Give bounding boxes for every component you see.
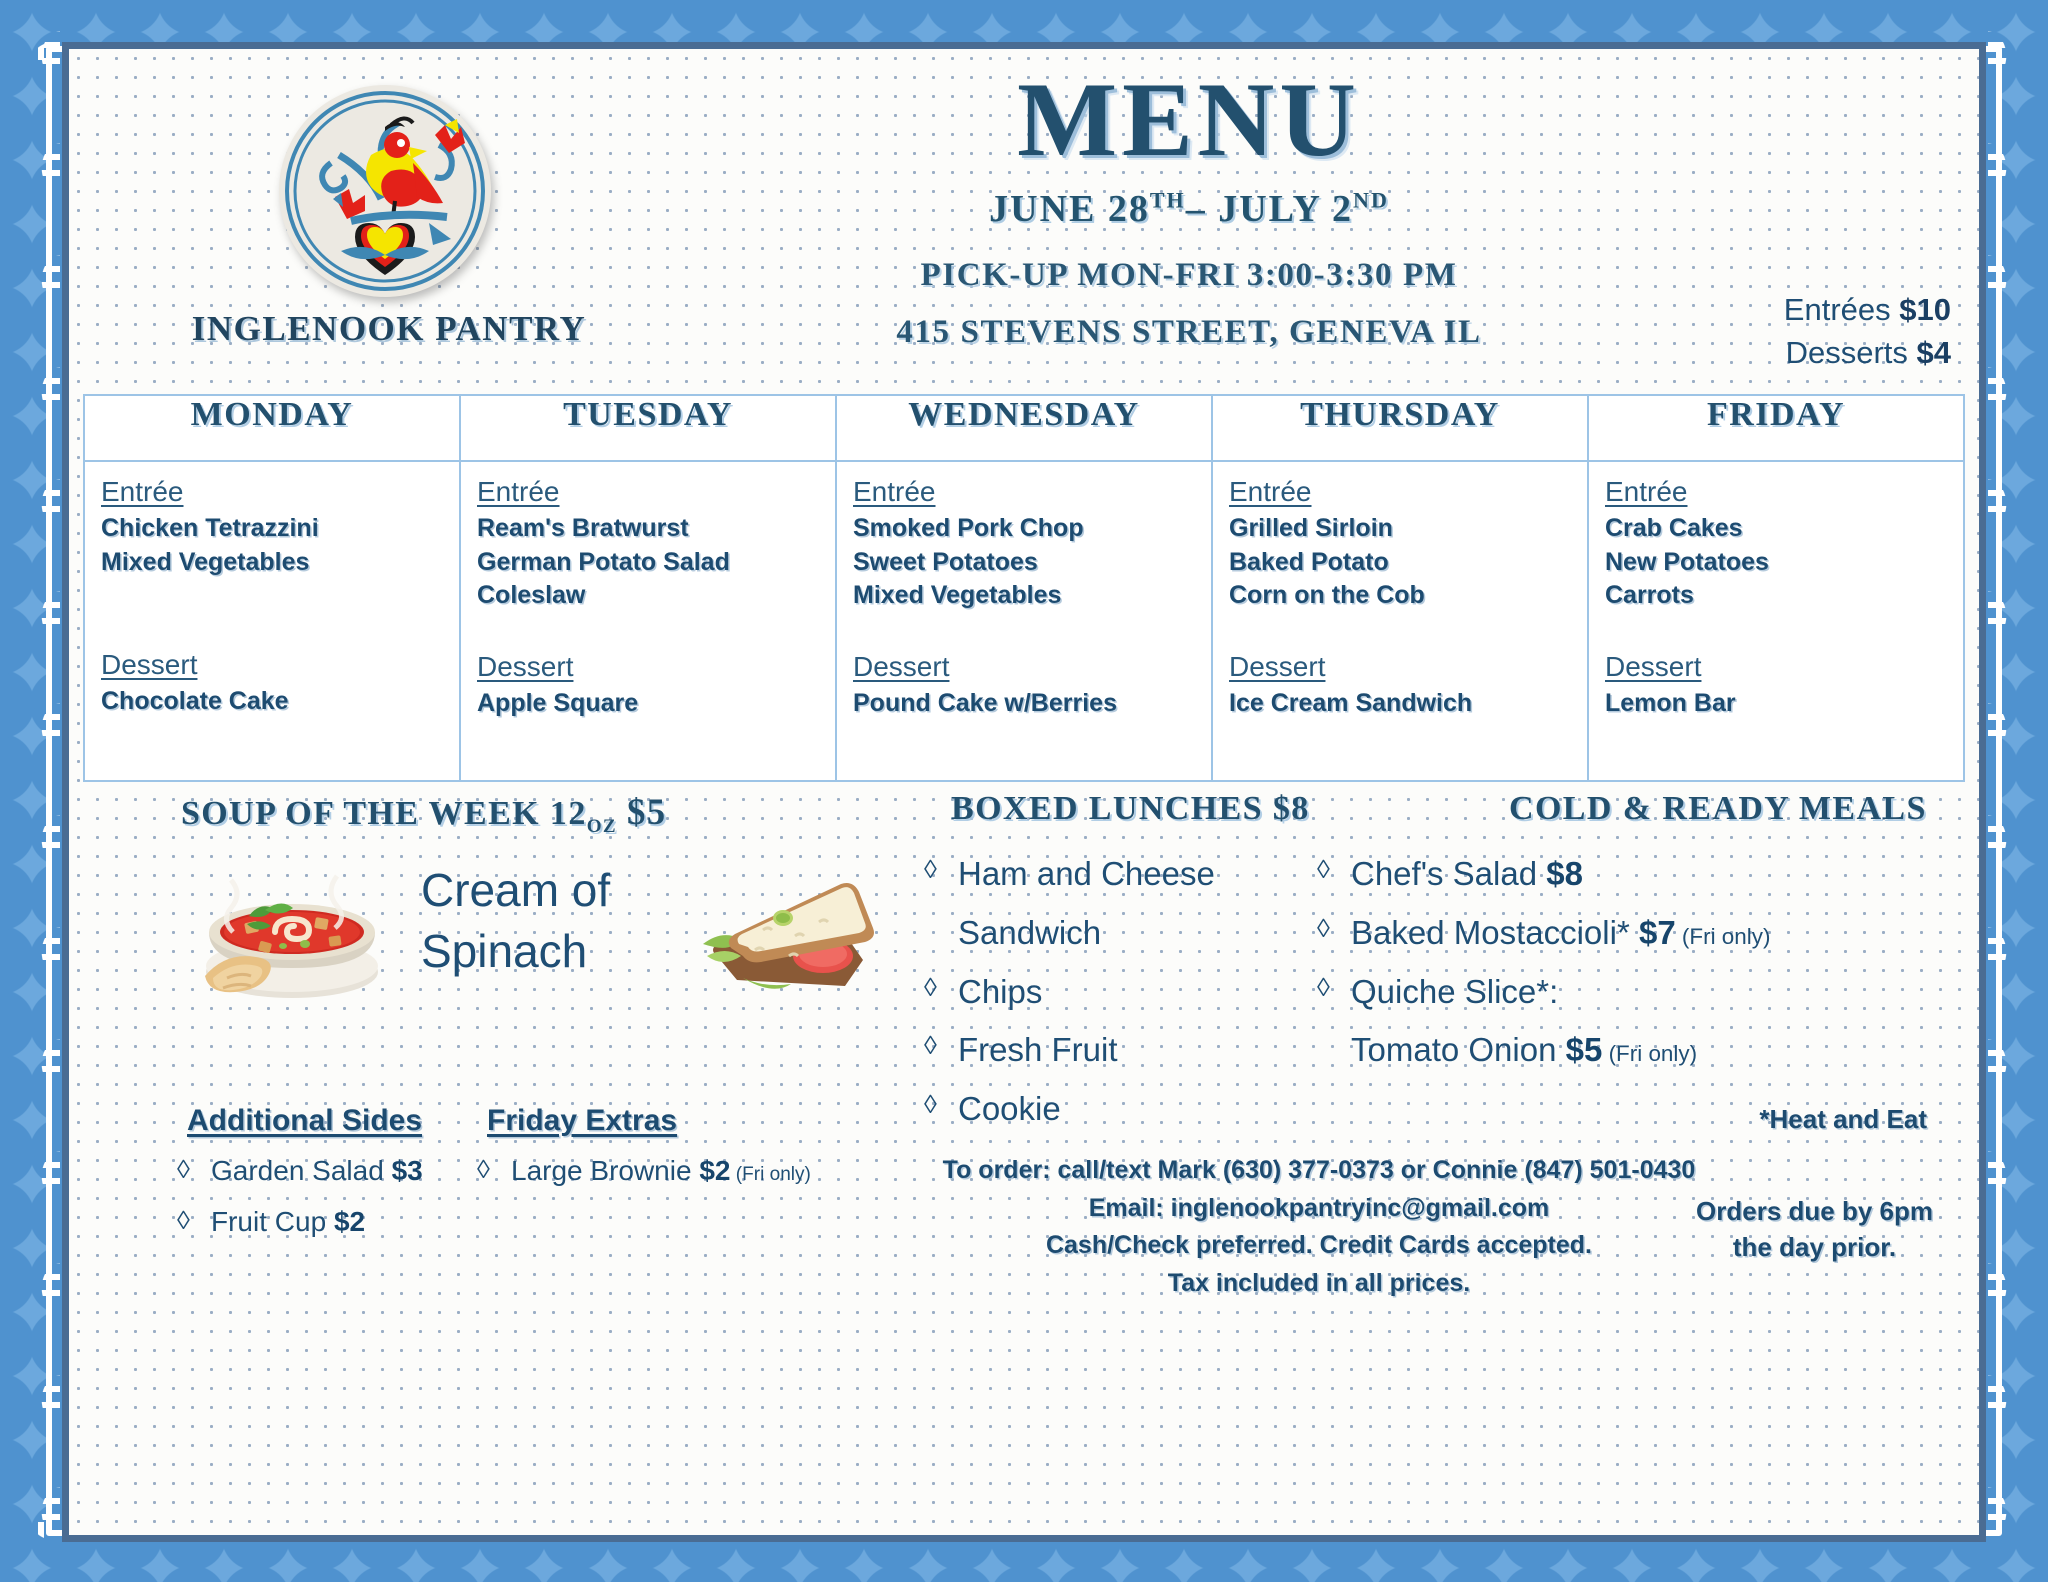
entree-item: Carrots: [1605, 579, 1963, 613]
day-cell-tuesday: Entrée Ream's Bratwurst German Potato Sa…: [460, 461, 836, 781]
soup-title-unit: OZ: [587, 816, 617, 837]
diamond-bullet-icon: ◊: [1317, 968, 1351, 1017]
spacer: [1605, 613, 1963, 651]
day-cell-monday: Entrée Chicken Tetrazzini Mixed Vegetabl…: [84, 461, 460, 781]
header-center: MENU JUNE 28TH– JULY 2ND PICK-UP MON-FRI…: [689, 67, 1689, 351]
soup-price: $5: [627, 791, 667, 832]
list-item-label: Ham and Cheese: [958, 850, 1215, 899]
list-item-label: Baked Mostaccioli*: [1351, 914, 1639, 951]
entree-price-value: $10: [1899, 292, 1951, 327]
heat-and-eat-note: *Heat and Eat: [1759, 1104, 1927, 1135]
dessert-item: Chocolate Cake: [101, 685, 459, 719]
table-row: Entrée Chicken Tetrazzini Mixed Vegetabl…: [84, 461, 1964, 781]
list-item-label: Garden Salad: [211, 1155, 392, 1186]
spacer: [853, 613, 1211, 651]
date-separator: – JULY 2: [1186, 188, 1353, 230]
list-item: ◊Fruit Cup $2: [177, 1201, 457, 1242]
list-item: ◊Fresh Fruit: [924, 1026, 1264, 1075]
entree-item: Crab Cakes: [1605, 512, 1963, 546]
dessert-label: Dessert: [853, 651, 1211, 683]
diamond-bullet-icon: ◊: [924, 1085, 958, 1134]
entree-item: New Potatoes: [1605, 546, 1963, 580]
diamond-bullet-icon: ◊: [1317, 1026, 1351, 1075]
day-header-tuesday: TUESDAY: [460, 395, 836, 461]
spacer: [1229, 613, 1587, 651]
item-note: (Fri only): [1602, 1041, 1697, 1066]
spacer: [101, 579, 459, 649]
item-price: $2: [334, 1206, 365, 1237]
list-item: ◊Baked Mostaccioli* $7 (Fri only): [1317, 909, 1837, 958]
order-email-line: Email: inglenookpantryinc@gmail.com: [929, 1190, 1709, 1228]
entree-item: Coleslaw: [477, 579, 835, 613]
item-price: $5: [1566, 1031, 1603, 1068]
diamond-bullet-icon: ◊: [1317, 909, 1351, 958]
diamond-bullet-icon: ◊: [924, 1026, 958, 1075]
item-price: $3: [392, 1155, 423, 1186]
brand-name: INGLENOOK PANTRY: [189, 309, 589, 349]
tax-line: Tax included in all prices.: [929, 1265, 1709, 1303]
dessert-item: Ice Cream Sandwich: [1229, 687, 1587, 721]
dessert-price-row: Desserts $4: [1784, 332, 1951, 375]
entree-label: Entrée: [1229, 476, 1587, 508]
diamond-bullet-icon: ◊: [177, 1201, 211, 1242]
cold-ready-items: ◊Chef's Salad $8 ◊Baked Mostaccioli* $7 …: [1317, 850, 1837, 1085]
brand-logo: [279, 85, 491, 297]
boxed-lunches-title: BOXED LUNCHES $8: [951, 790, 1310, 828]
date-start: JUNE 28: [989, 188, 1150, 230]
day-header-monday: MONDAY: [84, 395, 460, 461]
dessert-label: Dessert: [477, 651, 835, 683]
friday-extras-items: ◊Large Brownie $2 (Fri only): [477, 1150, 897, 1201]
date-end-ordinal: ND: [1353, 187, 1389, 212]
day-cell-friday: Entrée Crab Cakes New Potatoes Carrots D…: [1588, 461, 1964, 781]
diamond-bullet-icon: ◊: [924, 850, 958, 899]
item-note: (Fri only): [1676, 924, 1771, 949]
spacer: [477, 613, 835, 651]
payment-line: Cash/Check preferred. Credit Cards accep…: [929, 1227, 1709, 1265]
entree-label: Entrée: [853, 476, 1211, 508]
day-header-thursday: THURSDAY: [1212, 395, 1588, 461]
order-deadline-note: Orders due by 6pm the day prior.: [1696, 1194, 1933, 1266]
menu-date-range: JUNE 28TH– JULY 2ND: [689, 187, 1689, 231]
soup-bowl-icon: [187, 854, 397, 1004]
day-cell-wednesday: Entrée Smoked Pork Chop Sweet Potatoes M…: [836, 461, 1212, 781]
list-item: ◊Large Brownie $2 (Fri only): [477, 1150, 897, 1191]
list-item-label: Large Brownie: [511, 1155, 699, 1186]
entree-label: Entrée: [1605, 476, 1963, 508]
deadline-line-1: Orders due by 6pm: [1696, 1194, 1933, 1230]
entree-price-label: Entrées: [1784, 292, 1891, 327]
entree-label: Entrée: [101, 476, 459, 508]
list-item: ◊Garden Salad $3: [177, 1150, 457, 1191]
additional-sides-title: Additional Sides: [187, 1104, 422, 1138]
hex-sign-distelfink-icon: [279, 85, 491, 297]
entree-label: Entrée: [477, 476, 835, 508]
entree-item: Smoked Pork Chop: [853, 512, 1211, 546]
entree-item: Mixed Vegetables: [101, 546, 459, 580]
list-item-label: Fruit Cup: [211, 1206, 334, 1237]
list-item: ◊Ham and Cheese: [924, 850, 1264, 899]
dessert-label: Dessert: [1605, 651, 1963, 683]
entree-price-row: Entrées $10: [1784, 289, 1951, 332]
dessert-label: Dessert: [1229, 651, 1587, 683]
day-cell-thursday: Entrée Grilled Sirloin Baked Potato Corn…: [1212, 461, 1588, 781]
diamond-bullet-icon: ◊: [177, 1150, 211, 1191]
dessert-item: Lemon Bar: [1605, 687, 1963, 721]
diamond-bullet-icon: ◊: [1317, 850, 1351, 899]
dessert-price-value: $4: [1917, 335, 1951, 370]
entree-item: Chicken Tetrazzini: [101, 512, 459, 546]
day-header-wednesday: WEDNESDAY: [836, 395, 1212, 461]
entree-item: Ream's Bratwurst: [477, 512, 835, 546]
item-price: $2: [699, 1155, 730, 1186]
dessert-item: Pound Cake w/Berries: [853, 687, 1211, 721]
list-item: ◊Cookie: [924, 1085, 1264, 1134]
list-item-label: Tomato Onion: [1351, 1031, 1566, 1068]
item-note: (Fri only): [731, 1164, 811, 1185]
weekly-menu-table: MONDAY TUESDAY WEDNESDAY THURSDAY FRIDAY…: [83, 394, 1965, 782]
price-summary: Entrées $10 Desserts $4: [1784, 289, 1951, 375]
soup-name: Cream of Spinach: [421, 860, 671, 981]
entree-item: Baked Potato: [1229, 546, 1587, 580]
menu-header: INGLENOOK PANTRY MENU JUNE 28TH– JULY 2N…: [69, 49, 1979, 394]
friday-extras-title: Friday Extras: [487, 1104, 677, 1138]
diamond-bullet-icon: ◊: [924, 968, 958, 1017]
menu-poster: INGLENOOK PANTRY MENU JUNE 28TH– JULY 2N…: [0, 0, 2048, 1582]
page-title: MENU: [689, 67, 1689, 173]
diamond-bullet-icon: ◊: [477, 1150, 511, 1191]
menu-panel: INGLENOOK PANTRY MENU JUNE 28TH– JULY 2N…: [62, 42, 1986, 1542]
cold-ready-title: COLD & READY MEALS: [1509, 790, 1927, 828]
boxed-lunch-items: ◊Ham and Cheese ◊Sandwich ◊Chips ◊Fresh …: [924, 850, 1264, 1144]
soup-title-text: SOUP OF THE WEEK 12: [181, 795, 587, 832]
entree-item: Mixed Vegetables: [853, 579, 1211, 613]
dessert-price-label: Desserts: [1786, 335, 1908, 370]
soup-section-title: SOUP OF THE WEEK 12OZ $5: [181, 790, 666, 838]
additional-sides-items: ◊Garden Salad $3 ◊Fruit Cup $2: [177, 1150, 457, 1253]
table-header-row: MONDAY TUESDAY WEDNESDAY THURSDAY FRIDAY: [84, 395, 1964, 461]
list-item-label: Quiche Slice*:: [1351, 968, 1558, 1017]
entree-item: Corn on the Cob: [1229, 579, 1587, 613]
list-item-label: Cookie: [958, 1085, 1061, 1134]
day-header-friday: FRIDAY: [1588, 395, 1964, 461]
order-phone-line: To order: call/text Mark (630) 377-0373 …: [929, 1152, 1709, 1190]
list-item-label: Chef's Salad: [1351, 855, 1546, 892]
entree-item: Grilled Sirloin: [1229, 512, 1587, 546]
item-price: $8: [1546, 855, 1583, 892]
list-item-label: Sandwich: [958, 909, 1101, 958]
list-item: ◊Chef's Salad $8: [1317, 850, 1837, 899]
deadline-line-2: the day prior.: [1696, 1230, 1933, 1266]
list-item-label: Chips: [958, 968, 1042, 1017]
item-price: $7: [1639, 914, 1676, 951]
list-item: ◊Chips: [924, 968, 1264, 1017]
entree-item: German Potato Salad: [477, 546, 835, 580]
diamond-bullet-icon: ◊: [924, 909, 958, 958]
sandwich-icon: [691, 860, 891, 1010]
list-item: ◊Tomato Onion $5 (Fri only): [1317, 1026, 1837, 1075]
menu-bottom-sections: SOUP OF THE WEEK 12OZ $5: [69, 782, 1979, 1292]
order-instructions: To order: call/text Mark (630) 377-0373 …: [929, 1152, 1709, 1302]
dessert-label: Dessert: [101, 649, 459, 681]
entree-item: Sweet Potatoes: [853, 546, 1211, 580]
date-start-ordinal: TH: [1150, 187, 1186, 212]
dessert-item: Apple Square: [477, 687, 835, 721]
address: 415 STEVENS STREET, GENEVA IL: [689, 314, 1689, 351]
list-item: ◊Quiche Slice*:: [1317, 968, 1837, 1017]
list-item-label: Fresh Fruit: [958, 1026, 1118, 1075]
pickup-hours: PICK-UP MON-FRI 3:00-3:30 PM: [689, 257, 1689, 294]
list-item: ◊Sandwich: [924, 909, 1264, 958]
